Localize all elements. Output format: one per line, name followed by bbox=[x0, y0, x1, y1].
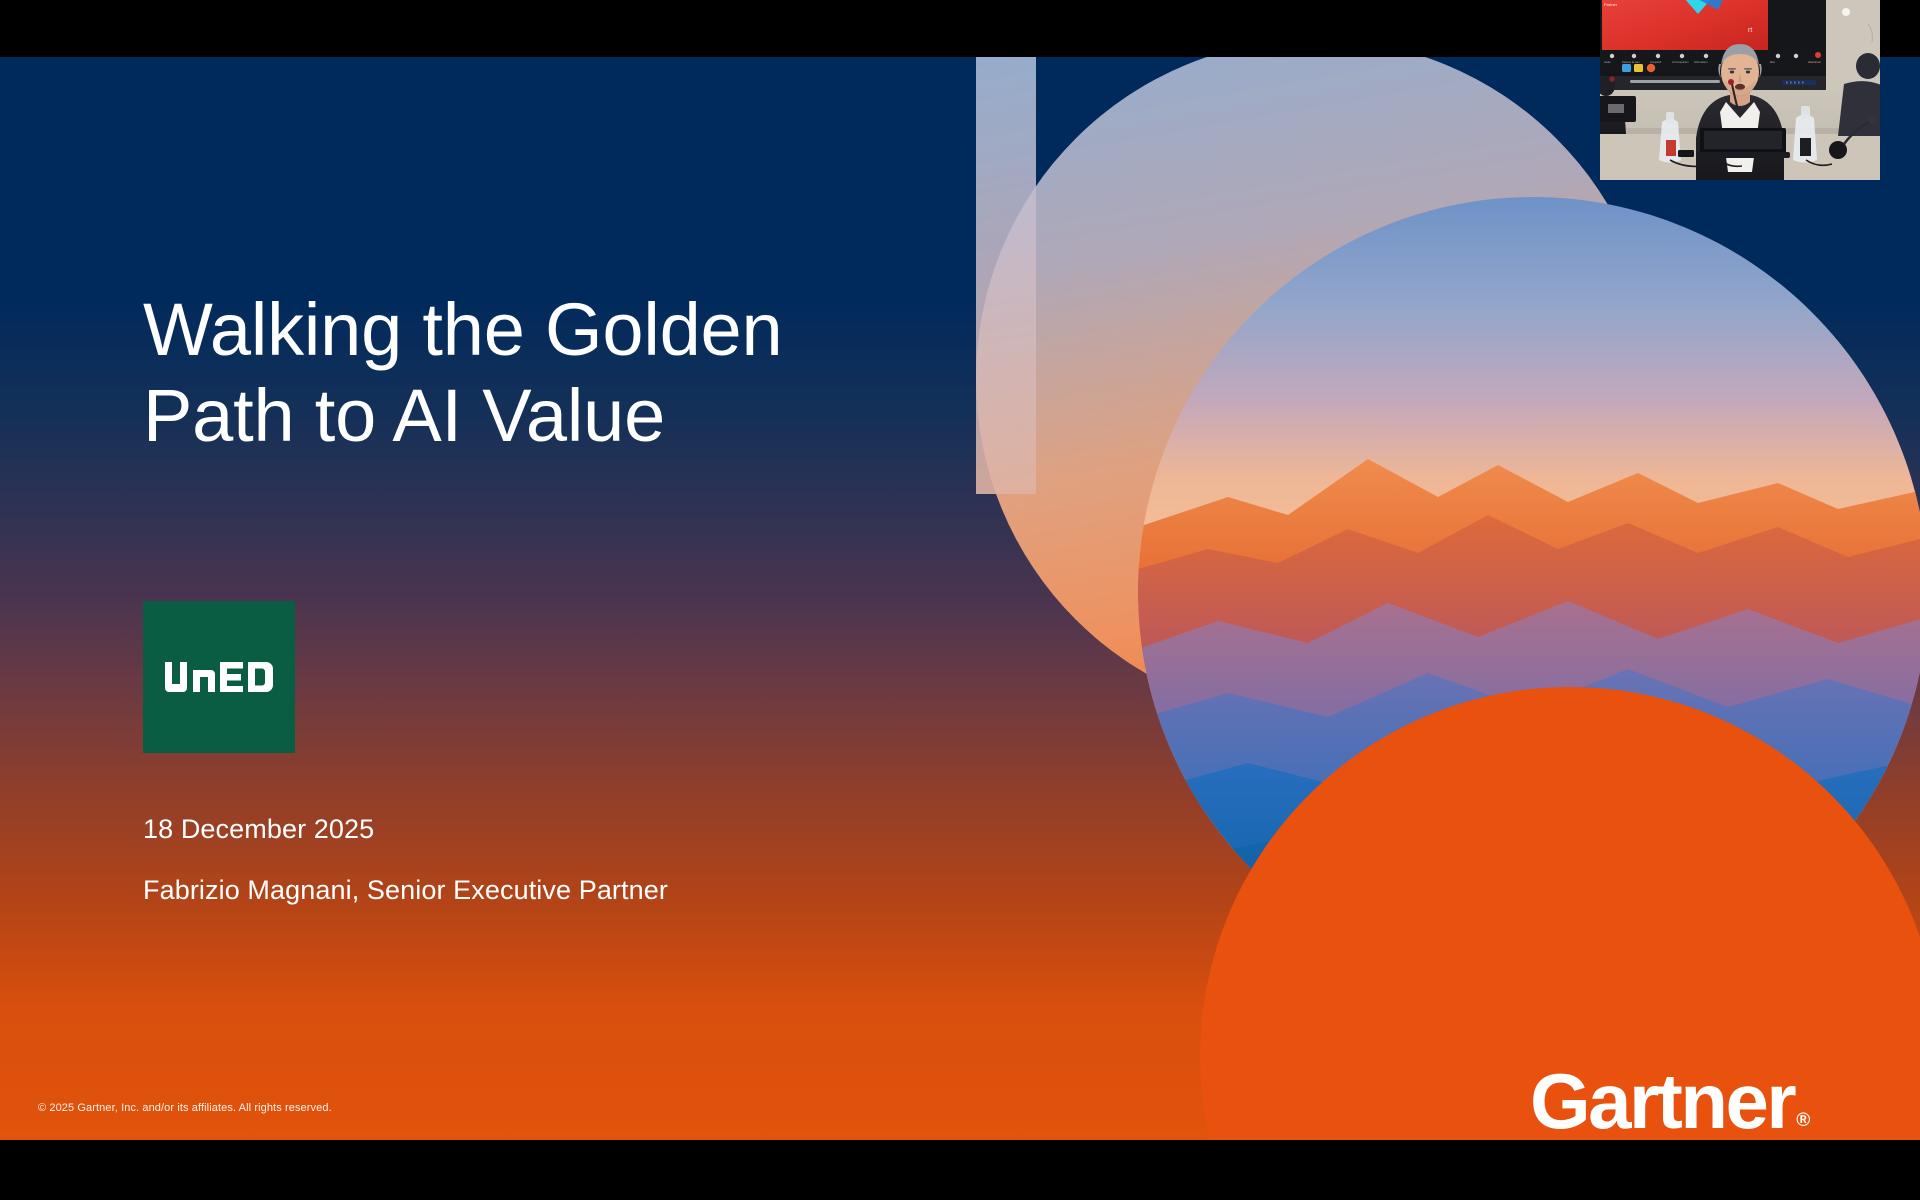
slide-date: 18 December 2025 bbox=[143, 814, 374, 845]
presenter-name-title: Fabrizio Magnani, Senior Executive Partn… bbox=[143, 875, 668, 906]
svg-text:Compartir: Compartir bbox=[1650, 60, 1662, 64]
page-title: Walking the Golden Path to AI Value bbox=[143, 287, 1043, 459]
svg-text:Audio: Audio bbox=[1604, 60, 1611, 64]
presentation-slide: Walking the Golden Path to AI Value 18 D… bbox=[0, 57, 1920, 1140]
svg-text:AI Companion: AI Companion bbox=[1672, 60, 1689, 64]
webcam-video-overlay[interactable]: Partner rt Audio Detener la cam Comparti… bbox=[1600, 0, 1880, 180]
title-line-2: Path to AI Value bbox=[143, 374, 665, 457]
svg-text:Abandonar: Abandonar bbox=[1808, 60, 1821, 64]
gartner-wordmark: Gartner bbox=[1530, 1057, 1794, 1140]
gartner-logo: Gartner® bbox=[1530, 1062, 1808, 1140]
uned-logo bbox=[143, 601, 295, 753]
svg-text:rt: rt bbox=[1748, 27, 1752, 34]
svg-text:Informacion: Informacion bbox=[1694, 60, 1708, 64]
screen: Walking the Golden Path to AI Value 18 D… bbox=[0, 0, 1920, 1200]
registered-trademark-icon: ® bbox=[1796, 1110, 1810, 1131]
svg-text:Mas: Mas bbox=[1770, 60, 1776, 64]
copyright-notice: © 2025 Gartner, Inc. and/or its affiliat… bbox=[38, 1102, 332, 1114]
title-line-1: Walking the Golden bbox=[143, 288, 782, 371]
svg-text:Partner: Partner bbox=[1604, 2, 1618, 7]
decorative-graphic bbox=[960, 57, 1920, 1140]
svg-text:Detener la cam: Detener la cam bbox=[1622, 60, 1640, 64]
